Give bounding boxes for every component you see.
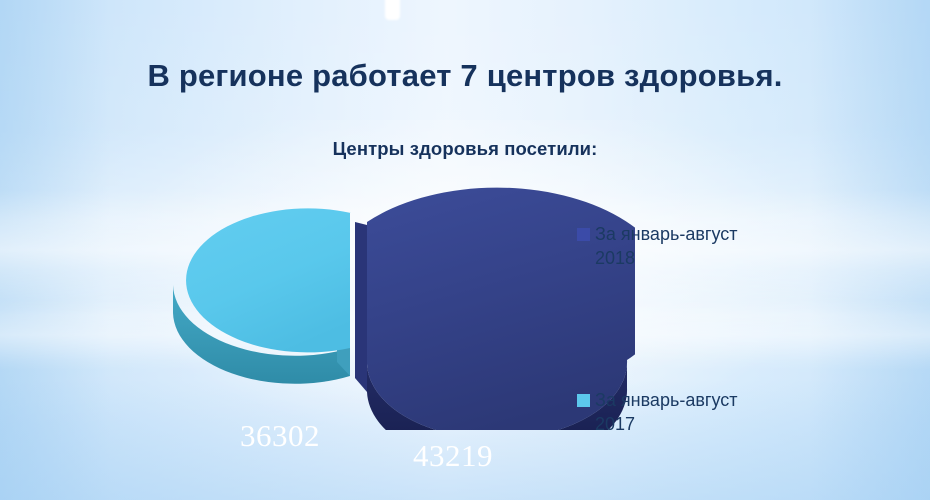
top-edge-notch [385, 0, 400, 20]
pie-label-2018: 43219 [413, 438, 493, 474]
legend-label-2017: За январь-август 2017 [595, 388, 755, 437]
pie-slice-2017-top [186, 208, 351, 352]
slide-canvas: В регионе работает 7 центров здоровья. Ц… [0, 0, 930, 500]
pie-chart: 43219 36302 [155, 180, 635, 430]
legend-swatch-2018-icon [577, 228, 590, 241]
legend-item-2018[interactable]: За январь-август 2018 [577, 222, 792, 271]
pie-chart-svg [155, 180, 635, 430]
chart-legend: За январь-август 2018 За январь-август 2… [577, 222, 792, 436]
chart-subtitle: Центры здоровья посетили: [0, 138, 930, 160]
legend-label-2018: За январь-август 2018 [595, 222, 755, 271]
slide-title: В регионе работает 7 центров здоровья. [0, 58, 930, 94]
legend-item-2017[interactable]: За январь-август 2017 [577, 388, 792, 437]
pie-label-2017: 36302 [240, 418, 320, 454]
legend-swatch-2017-icon [577, 394, 590, 407]
